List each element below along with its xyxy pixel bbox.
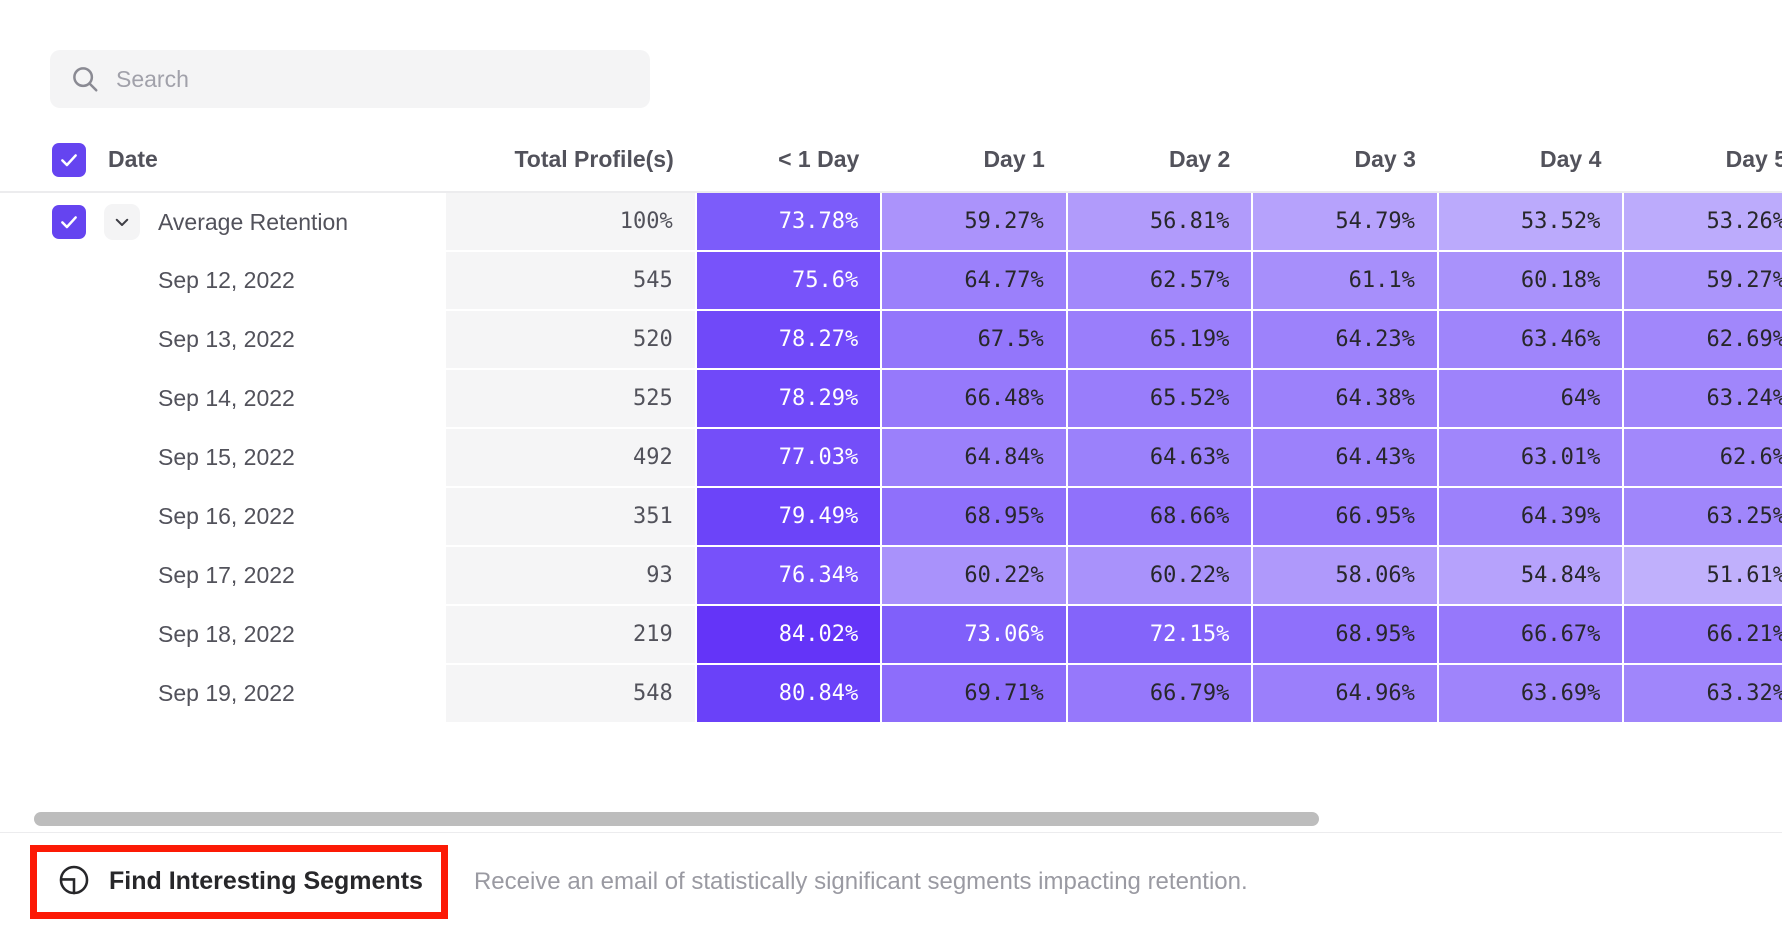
cell-retention[interactable]: 78.27% <box>696 310 882 369</box>
cell-retention[interactable]: 65.52% <box>1067 369 1253 428</box>
cell-retention[interactable]: 54.79% <box>1252 192 1438 251</box>
horizontal-scrollbar-thumb[interactable] <box>34 812 1319 826</box>
row-date-label: Sep 13, 2022 <box>158 326 295 353</box>
column-header-day-2[interactable]: Day 2 <box>1067 128 1253 192</box>
cell-retention[interactable]: 63.32% <box>1623 664 1782 723</box>
cell-retention[interactable]: 60.18% <box>1438 251 1624 310</box>
cell-retention[interactable]: 62.69% <box>1623 310 1782 369</box>
cell-retention[interactable]: 78.29% <box>696 369 882 428</box>
cell-retention[interactable]: 58.06% <box>1252 546 1438 605</box>
row-checkbox[interactable] <box>52 205 86 239</box>
row-date-label: Sep 12, 2022 <box>158 267 295 294</box>
cell-date: Average Retention <box>0 192 446 251</box>
cell-retention[interactable]: 53.26% <box>1623 192 1782 251</box>
column-header-day-4[interactable]: Day 4 <box>1438 128 1624 192</box>
cell-total-profiles: 351 <box>446 487 695 546</box>
cell-retention[interactable]: 66.48% <box>881 369 1067 428</box>
cell-retention[interactable]: 68.95% <box>1252 605 1438 664</box>
cell-retention[interactable]: 64.43% <box>1252 428 1438 487</box>
horizontal-scrollbar-track[interactable] <box>34 812 1772 826</box>
table-row[interactable]: Sep 19, 202254880.84%69.71%66.79%64.96%6… <box>0 664 1782 723</box>
cell-retention[interactable]: 64.38% <box>1252 369 1438 428</box>
cell-date: Sep 12, 2022 <box>0 251 446 310</box>
retention-table: Date Total Profile(s) < 1 Day Day 1 Day … <box>0 128 1782 724</box>
table-row[interactable]: Sep 18, 202221984.02%73.06%72.15%68.95%6… <box>0 605 1782 664</box>
bottom-action-bar: Find Interesting Segments Receive an ema… <box>0 832 1782 930</box>
table-row[interactable]: Sep 12, 202254575.6%64.77%62.57%61.1%60.… <box>0 251 1782 310</box>
cell-retention[interactable]: 79.49% <box>696 487 882 546</box>
cell-retention[interactable]: 64.23% <box>1252 310 1438 369</box>
row-date-label: Sep 16, 2022 <box>158 503 295 530</box>
table-row[interactable]: Sep 13, 202252078.27%67.5%65.19%64.23%63… <box>0 310 1782 369</box>
cell-date: Sep 16, 2022 <box>0 487 446 546</box>
cell-retention[interactable]: 63.69% <box>1438 664 1624 723</box>
highlight-annotation: Find Interesting Segments <box>30 845 448 919</box>
retention-table-panel: Date Total Profile(s) < 1 Day Day 1 Day … <box>0 0 1782 930</box>
cell-total-profiles: 545 <box>446 251 695 310</box>
cell-date: Sep 19, 2022 <box>0 664 446 723</box>
cell-date: Sep 14, 2022 <box>0 369 446 428</box>
retention-table-scroll-area[interactable]: Date Total Profile(s) < 1 Day Day 1 Day … <box>0 128 1782 820</box>
column-header-lt-1-day[interactable]: < 1 Day <box>696 128 882 192</box>
find-interesting-segments-button[interactable]: Find Interesting Segments <box>57 863 423 900</box>
row-date-label: Sep 15, 2022 <box>158 444 295 471</box>
search-bar[interactable] <box>50 50 650 108</box>
cell-retention[interactable]: 69.71% <box>881 664 1067 723</box>
cell-retention[interactable]: 66.67% <box>1438 605 1624 664</box>
cell-retention[interactable]: 65.19% <box>1067 310 1253 369</box>
cell-date: Sep 13, 2022 <box>0 310 446 369</box>
cell-retention[interactable]: 73.06% <box>881 605 1067 664</box>
search-input[interactable] <box>116 66 596 93</box>
header-row: Date Total Profile(s) < 1 Day Day 1 Day … <box>0 128 1782 192</box>
table-body: Average Retention100%73.78%59.27%56.81%5… <box>0 192 1782 723</box>
cell-retention[interactable]: 59.27% <box>1623 251 1782 310</box>
cell-retention[interactable]: 72.15% <box>1067 605 1253 664</box>
cell-retention[interactable]: 64.77% <box>881 251 1067 310</box>
table-row[interactable]: Average Retention100%73.78%59.27%56.81%5… <box>0 192 1782 251</box>
column-header-day-5[interactable]: Day 5 <box>1623 128 1782 192</box>
row-date-label: Average Retention <box>158 209 348 236</box>
column-header-day-1[interactable]: Day 1 <box>881 128 1067 192</box>
select-all-checkbox[interactable] <box>52 143 86 177</box>
cell-total-profiles: 93 <box>446 546 695 605</box>
cell-total-profiles: 548 <box>446 664 695 723</box>
cell-retention[interactable]: 76.34% <box>696 546 882 605</box>
cell-total-profiles: 525 <box>446 369 695 428</box>
cell-retention[interactable]: 51.61% <box>1623 546 1782 605</box>
cell-retention[interactable]: 56.81% <box>1067 192 1253 251</box>
table-row[interactable]: Sep 15, 202249277.03%64.84%64.63%64.43%6… <box>0 428 1782 487</box>
search-icon <box>70 64 100 94</box>
cell-retention[interactable]: 61.1% <box>1252 251 1438 310</box>
find-segments-icon <box>57 863 91 900</box>
cell-retention[interactable]: 63.46% <box>1438 310 1624 369</box>
cell-retention[interactable]: 75.6% <box>696 251 882 310</box>
table-row[interactable]: Sep 14, 202252578.29%66.48%65.52%64.38%6… <box>0 369 1782 428</box>
cell-retention[interactable]: 54.84% <box>1438 546 1624 605</box>
cell-retention[interactable]: 73.78% <box>696 192 882 251</box>
table-row[interactable]: Sep 16, 202235179.49%68.95%68.66%66.95%6… <box>0 487 1782 546</box>
cell-retention[interactable]: 66.79% <box>1067 664 1253 723</box>
column-header-day-3[interactable]: Day 3 <box>1252 128 1438 192</box>
cell-retention[interactable]: 66.21% <box>1623 605 1782 664</box>
cell-retention[interactable]: 77.03% <box>696 428 882 487</box>
cell-retention[interactable]: 68.95% <box>881 487 1067 546</box>
cell-retention[interactable]: 62.6% <box>1623 428 1782 487</box>
cell-total-profiles: 520 <box>446 310 695 369</box>
cell-date: Sep 18, 2022 <box>0 605 446 664</box>
cell-retention[interactable]: 84.02% <box>696 605 882 664</box>
row-date-label: Sep 17, 2022 <box>158 562 295 589</box>
cell-total-profiles: 492 <box>446 428 695 487</box>
cell-retention[interactable]: 63.25% <box>1623 487 1782 546</box>
cell-total-profiles: 219 <box>446 605 695 664</box>
cell-total-profiles: 100% <box>446 192 695 251</box>
cell-retention[interactable]: 64% <box>1438 369 1624 428</box>
cell-date: Sep 15, 2022 <box>0 428 446 487</box>
cell-retention[interactable]: 60.22% <box>1067 546 1253 605</box>
column-header-date-label: Date <box>108 146 158 173</box>
table-header: Date Total Profile(s) < 1 Day Day 1 Day … <box>0 128 1782 192</box>
bottom-note-text: Receive an email of statistically signif… <box>474 868 1248 896</box>
cell-retention[interactable]: 64.84% <box>881 428 1067 487</box>
cell-retention[interactable]: 64.39% <box>1438 487 1624 546</box>
row-date-label: Sep 14, 2022 <box>158 385 295 412</box>
cell-retention[interactable]: 66.95% <box>1252 487 1438 546</box>
cell-retention[interactable]: 64.96% <box>1252 664 1438 723</box>
column-header-date[interactable]: Date <box>0 128 446 192</box>
cell-retention[interactable]: 60.22% <box>881 546 1067 605</box>
cell-retention[interactable]: 80.84% <box>696 664 882 723</box>
cell-date: Sep 17, 2022 <box>0 546 446 605</box>
find-segments-label: Find Interesting Segments <box>109 867 423 896</box>
row-date-label: Sep 19, 2022 <box>158 680 295 707</box>
cell-retention[interactable]: 64.63% <box>1067 428 1253 487</box>
column-header-total-profiles[interactable]: Total Profile(s) <box>446 128 695 192</box>
chevron-down-icon[interactable] <box>104 204 140 240</box>
cell-retention[interactable]: 62.57% <box>1067 251 1253 310</box>
row-date-label: Sep 18, 2022 <box>158 621 295 648</box>
cell-retention[interactable]: 63.01% <box>1438 428 1624 487</box>
cell-retention[interactable]: 59.27% <box>881 192 1067 251</box>
cell-retention[interactable]: 68.66% <box>1067 487 1253 546</box>
cell-retention[interactable]: 53.52% <box>1438 192 1624 251</box>
cell-retention[interactable]: 63.24% <box>1623 369 1782 428</box>
cell-retention[interactable]: 67.5% <box>881 310 1067 369</box>
table-row[interactable]: Sep 17, 20229376.34%60.22%60.22%58.06%54… <box>0 546 1782 605</box>
